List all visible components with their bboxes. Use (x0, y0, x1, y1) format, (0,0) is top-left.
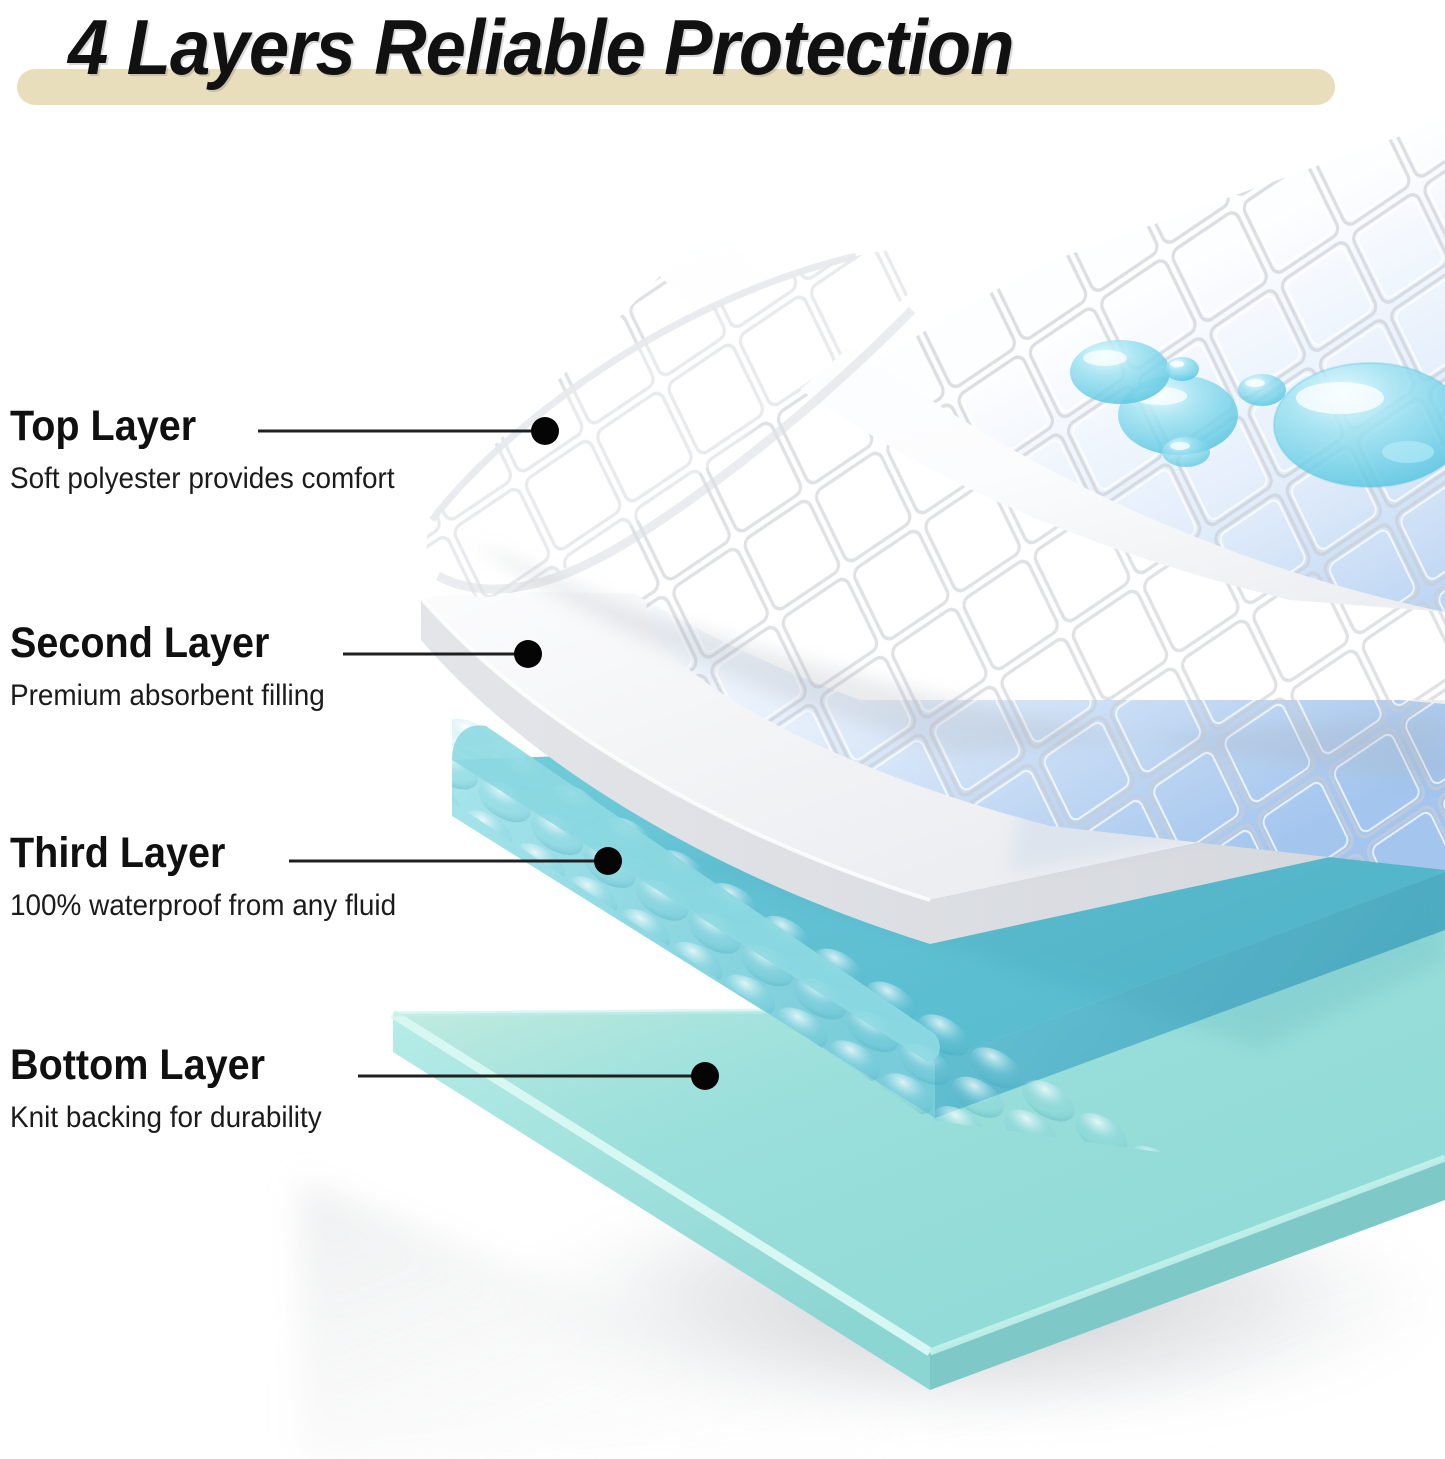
leader-dot-bottom (691, 1062, 719, 1090)
infographic-root: 4 Layers Reliable Protection Top Layer S… (0, 0, 1445, 1459)
callout-second-layer: Second Layer Premium absorbent filling (10, 622, 348, 711)
droplet-bead-a (1165, 357, 1199, 381)
leader-dot-third (594, 847, 622, 875)
droplet-bead-c (1162, 437, 1210, 467)
droplet-bead-b (1238, 374, 1286, 406)
callout-title-bottom-layer: Bottom Layer (10, 1044, 318, 1087)
callout-subtitle-bottom-layer: Knit backing for durability (10, 1103, 322, 1133)
page-title: 4 Layers Reliable Protection (68, 2, 1014, 93)
callout-subtitle-top-layer: Soft polyester provides comfort (10, 464, 395, 494)
droplet-large (1274, 363, 1445, 487)
callout-subtitle-third-layer: 100% waterproof from any fluid (10, 891, 396, 921)
leader-dot-top (531, 417, 559, 445)
callout-title-top-layer: Top Layer (10, 405, 390, 448)
callout-third-layer: Third Layer 100% waterproof from any flu… (10, 832, 425, 921)
leader-dot-second (514, 640, 542, 668)
callout-title-third-layer: Third Layer (10, 832, 392, 875)
callout-bottom-layer: Bottom Layer Knit backing for durability (10, 1044, 345, 1133)
callout-top-layer: Top Layer Soft polyester provides comfor… (10, 405, 424, 494)
callout-subtitle-second-layer: Premium absorbent filling (10, 681, 325, 711)
droplet-small-upper (1070, 340, 1170, 404)
callout-title-second-layer: Second Layer (10, 622, 321, 665)
layer-illustration (0, 0, 1445, 1459)
